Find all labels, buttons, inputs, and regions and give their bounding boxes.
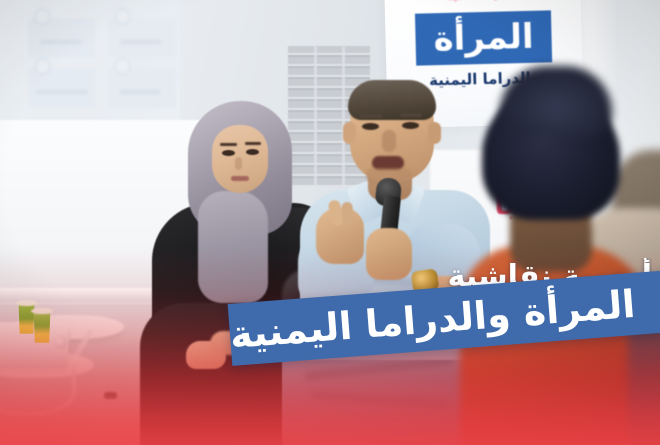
eye [402,122,419,129]
slide-caption [120,90,160,94]
belt-buckle [343,327,368,346]
eyebrow [245,142,261,145]
slide-caption [40,40,82,44]
slide-badge-icon [34,58,51,75]
hair-top [500,66,612,136]
paper-cup-rim [16,300,37,306]
mouth [231,176,249,181]
poster-kicker-text: أمسية نقاشية [384,0,580,4]
slide-badge-icon [114,8,131,25]
eye [222,150,235,156]
ear [428,122,441,144]
paper-cup [32,310,52,343]
paper-cup-rim [31,308,53,314]
video-frame: أمسية نقاشية المرأة والدراما اليمنية مرح… [0,0,660,445]
nose [235,157,242,170]
shoulder-dark [628,278,660,445]
hand [210,331,244,355]
floor-object [104,392,117,399]
slide-caption [36,90,88,94]
slide-location-icon [114,58,131,75]
shoulder-orange [460,246,650,445]
finger [341,202,354,225]
eye [246,149,259,155]
hijab-drape [198,191,268,303]
ear [343,122,356,144]
poster-headline-text: المرأة [415,10,552,65]
slide-caption [120,40,162,44]
paper-cup [17,302,36,334]
projector-lens [54,336,67,349]
eyebrow [220,143,237,146]
slide-badge-icon [34,8,51,25]
eye [362,123,379,130]
audience-foreground [476,88,660,445]
eyebrow [360,114,382,118]
hand-holding-microphone [366,228,412,280]
nose [382,130,396,152]
wristwatch [411,268,440,293]
eyebrow [400,113,422,117]
